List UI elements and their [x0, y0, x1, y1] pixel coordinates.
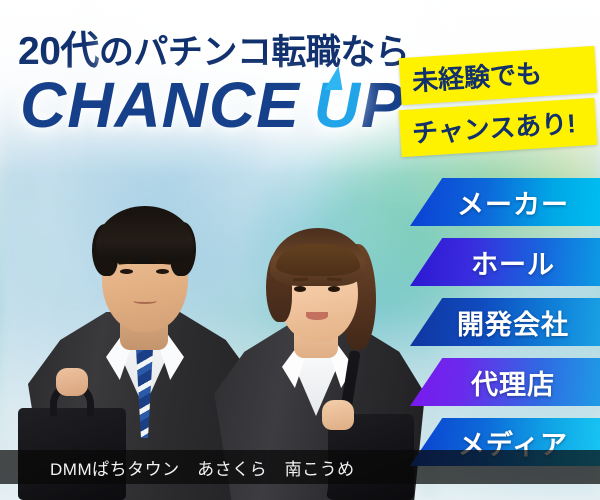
category-label: メーカー — [441, 183, 569, 222]
status-badge: 未経験でも チャンスあり! — [400, 52, 596, 151]
woman-eye-right — [328, 286, 340, 292]
badge-line-2: チャンスあり! — [399, 98, 598, 157]
photo-models — [0, 150, 440, 500]
man-mouth — [133, 298, 157, 304]
badge-line-1: 未経験でも — [399, 46, 598, 105]
headline-lead: 20代 — [18, 30, 99, 73]
caption-bar: DMMぱちタウン あさくら 南こうめ — [0, 450, 600, 484]
wordmark-p: P — [361, 69, 405, 141]
category-button-developer[interactable]: 開発会社 — [410, 298, 600, 346]
woman-bangs — [276, 244, 360, 276]
category-button-agency[interactable]: 代理店 — [410, 358, 600, 406]
category-button-hall[interactable]: ホール — [410, 238, 600, 286]
category-list: メーカー ホール 開発会社 代理店 メディア — [410, 178, 600, 478]
wordmark-chance: CHANCE — [20, 69, 300, 141]
category-label: 代理店 — [455, 363, 555, 402]
category-label: 開発会社 — [441, 303, 569, 342]
headline-rest: のパチンコ転職なら — [99, 33, 410, 72]
man-eye-left — [120, 269, 133, 274]
man-hand — [56, 368, 88, 396]
woman-eye-left — [294, 286, 306, 292]
brand-wordmark: CHANCEUP — [20, 68, 405, 142]
category-button-maker[interactable]: メーカー — [410, 178, 600, 226]
woman-mouth — [306, 312, 328, 320]
woman-hand — [322, 400, 354, 430]
banner-ad[interactable]: 20代のパチンコ転職なら CHANCEUP 未経験でも チャンスあり! メーカー… — [0, 0, 600, 500]
man-eye-right — [156, 269, 169, 274]
caption-text: DMMぱちタウン あさくら 南こうめ — [0, 455, 355, 480]
man-hair-top — [96, 206, 194, 264]
wordmark-u: U — [314, 68, 361, 142]
category-label: ホール — [455, 243, 555, 282]
